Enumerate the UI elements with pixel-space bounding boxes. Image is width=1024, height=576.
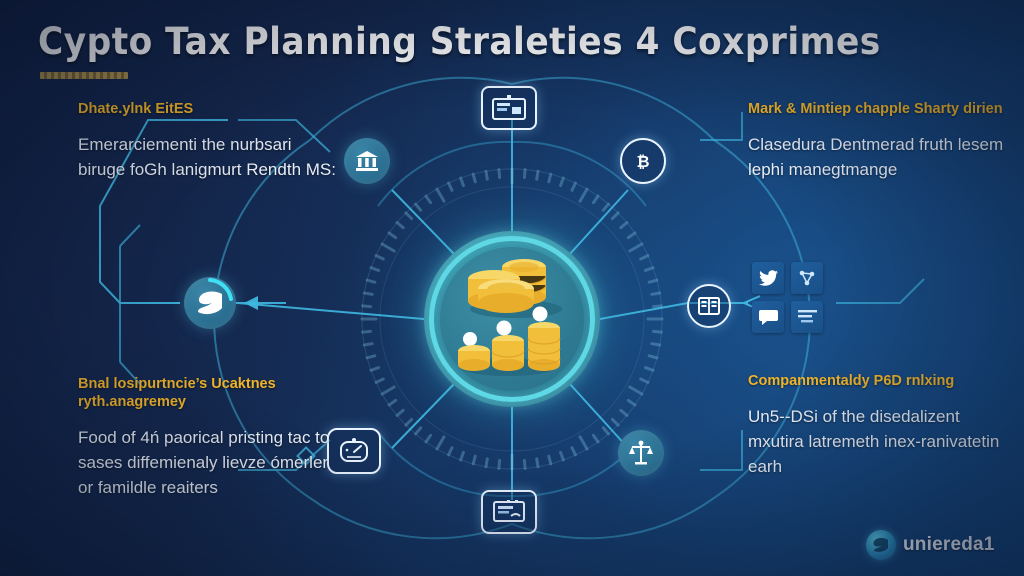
page-title: Cypto Tax Planning Straleties 4 Coxprime… xyxy=(38,20,763,63)
text-lines-icon[interactable] xyxy=(791,301,823,333)
node-bank[interactable] xyxy=(344,138,390,184)
central-hub xyxy=(424,231,600,407)
callout-bottom-right-heading: Companmentaldy P6D rnlxing xyxy=(748,372,1008,390)
bitcoin-coin-icon: ₿ xyxy=(632,150,654,172)
crypto-coin-stacks-icon xyxy=(424,231,600,407)
twitter-bird-icon[interactable] xyxy=(752,262,784,294)
node-bitcoin[interactable]: ₿ xyxy=(620,138,666,184)
chat-bubble-icon[interactable] xyxy=(752,301,784,333)
node-scales[interactable] xyxy=(618,430,664,476)
network-share-icon[interactable] xyxy=(791,262,823,294)
callout-top-left: Dhate.ylnk EitES Emerarciementi the nurb… xyxy=(78,100,338,182)
node-document-list[interactable] xyxy=(481,490,537,534)
stopwatch-icon xyxy=(339,438,369,464)
ledger-book-icon xyxy=(698,296,720,316)
callout-bottom-right: Companmentaldy P6D rnlxing Un5--DSi of t… xyxy=(748,372,1008,479)
callout-top-left-body: Emerarciementi the nurbsari biruge foGh … xyxy=(78,132,338,182)
circular-swirl-logo-icon xyxy=(866,530,896,560)
node-ledger-book[interactable] xyxy=(687,284,731,328)
document-list-icon xyxy=(493,500,525,524)
callout-top-right-heading: Mark & Mintiep chapple Sharty dirien xyxy=(748,100,1008,118)
callout-top-right-body: Clasedura Dentmerad fruth lesem lephi ma… xyxy=(748,132,1008,182)
node-id-card[interactable] xyxy=(481,86,537,130)
bank-icon xyxy=(354,149,380,173)
svg-text:₿: ₿ xyxy=(636,152,649,171)
callout-bottom-left-body: Food of 4ń paorical pristing tac to sase… xyxy=(78,425,338,500)
callout-bottom-right-body: Un5--DSi of the disedalizent mxutira lat… xyxy=(748,404,1008,479)
infographic-canvas: ₿ xyxy=(0,0,1024,576)
callout-top-right: Mark & Mintiep chapple Sharty dirien Cla… xyxy=(748,100,1008,182)
callout-bottom-left: Bnal losipurtncie’s Ucaktnes ryth.anagre… xyxy=(78,375,338,500)
brand-logo-text: uniereda1 xyxy=(903,534,995,556)
title-underline-rule xyxy=(40,72,128,79)
brand-logo[interactable]: uniereda1 xyxy=(866,530,995,560)
callout-top-left-heading: Dhate.ylnk EitES xyxy=(78,100,338,118)
callout-bottom-left-heading: Bnal losipurtncie’s Ucaktnes ryth.anagre… xyxy=(78,375,338,411)
id-card-icon xyxy=(492,95,526,121)
scales-icon xyxy=(628,440,654,466)
node-wave-swirl-progress-arc xyxy=(184,277,236,329)
social-icon-grid[interactable] xyxy=(752,262,823,333)
